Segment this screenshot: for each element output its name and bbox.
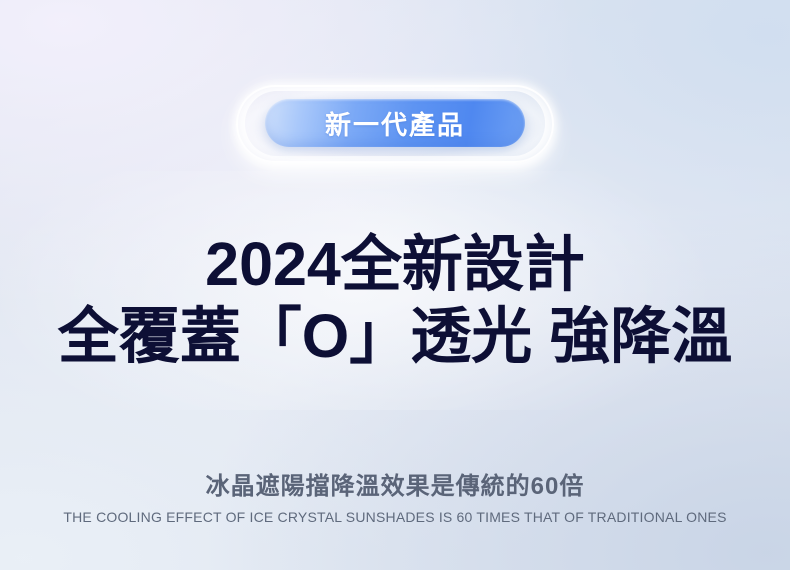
headline-line-2: 全覆蓋「O」透光 強降溫 xyxy=(0,304,790,369)
page-title: 2024全新設計 全覆蓋「O」透光 強降溫 xyxy=(0,232,790,368)
new-generation-badge[interactable]: 新一代產品 xyxy=(265,99,525,147)
hero-banner: 新一代產品 2024全新設計 全覆蓋「O」透光 強降溫 冰晶遮陽擋降溫效果是傳統… xyxy=(0,0,790,570)
badge-glow-ring: 新一代產品 xyxy=(252,97,538,149)
subtitle-chinese: 冰晶遮陽擋降溫效果是傳統的60倍 xyxy=(0,466,790,501)
headline-line-1: 2024全新設計 xyxy=(0,232,790,297)
badge-container: 新一代產品 xyxy=(0,97,790,149)
subtitle-english: THE COOLING EFFECT OF ICE CRYSTAL SUNSHA… xyxy=(0,509,790,525)
badge-label: 新一代產品 xyxy=(325,105,465,142)
